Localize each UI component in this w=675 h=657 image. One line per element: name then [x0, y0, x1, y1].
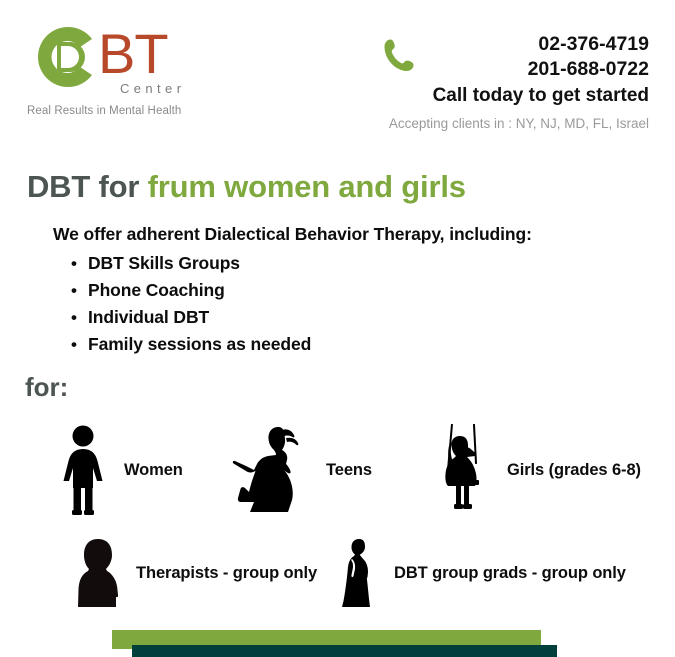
audience-heading: for: [25, 372, 68, 403]
list-item: •Phone Coaching [88, 277, 311, 304]
page-title: DBT for frum women and girls [27, 168, 466, 206]
logo-bt-text: BT [98, 23, 168, 85]
audience-label: Teens [326, 461, 372, 480]
bullet-glyph: • [71, 331, 77, 358]
list-item-label: Phone Coaching [88, 280, 225, 300]
audience-item-teens: Teens [232, 424, 372, 516]
call-to-action-text: Call today to get started [309, 83, 649, 109]
list-item-label: Family sessions as needed [88, 334, 311, 354]
logo-c-d-icon [37, 26, 99, 88]
woman-gown-silhouette-icon [340, 537, 378, 609]
phone-handset-icon [379, 36, 419, 76]
bullet-glyph: • [71, 250, 77, 277]
list-item-label: DBT Skills Groups [88, 253, 240, 273]
offer-intro-text: We offer adherent Dialectical Behavior T… [53, 224, 532, 245]
list-item: •DBT Skills Groups [88, 250, 311, 277]
audience-item-girls: Girls (grades 6-8) [437, 424, 641, 516]
phone-primary[interactable]: 02-376-4719 [309, 32, 649, 57]
woman-pictogram-icon [60, 424, 106, 516]
list-item: •Family sessions as needed [88, 331, 311, 358]
page-title-part-dark: DBT for [27, 169, 148, 204]
offer-list: •DBT Skills Groups •Phone Coaching •Indi… [64, 250, 311, 358]
page-header: BT Center Real Results in Mental Health … [0, 0, 675, 145]
phone-secondary[interactable]: 201-688-0722 [309, 57, 649, 82]
contact-block: 02-376-4719 201-688-0722 Call today to g… [309, 32, 649, 109]
girl-on-swing-silhouette-icon [437, 424, 487, 516]
woman-bust-silhouette-icon [76, 537, 120, 609]
audience-label: DBT group grads - group only [394, 564, 626, 583]
audience-item-therapists: Therapists - group only [76, 537, 317, 609]
accepting-clients-text: Accepting clients in : NY, NJ, MD, FL, I… [389, 116, 649, 131]
page-title-part-green: frum women and girls [148, 169, 466, 204]
audience-label: Women [124, 461, 183, 480]
footer-bar-teal [132, 645, 557, 657]
brand-tagline: Real Results in Mental Health [27, 105, 181, 117]
logo-center-text: Center [120, 81, 185, 96]
bullet-glyph: • [71, 277, 77, 304]
audience-item-grads: DBT group grads - group only [340, 537, 626, 609]
dancing-girl-silhouette-icon [232, 424, 312, 516]
brand-logo: BT Center Real Results in Mental Health [24, 26, 204, 88]
list-item: •Individual DBT [88, 304, 311, 331]
audience-item-women: Women [60, 424, 183, 516]
audience-label: Girls (grades 6-8) [507, 461, 641, 480]
audience-label: Therapists - group only [136, 564, 317, 583]
list-item-label: Individual DBT [88, 307, 209, 327]
logo-mark: BT Center [24, 26, 204, 88]
bullet-glyph: • [71, 304, 77, 331]
